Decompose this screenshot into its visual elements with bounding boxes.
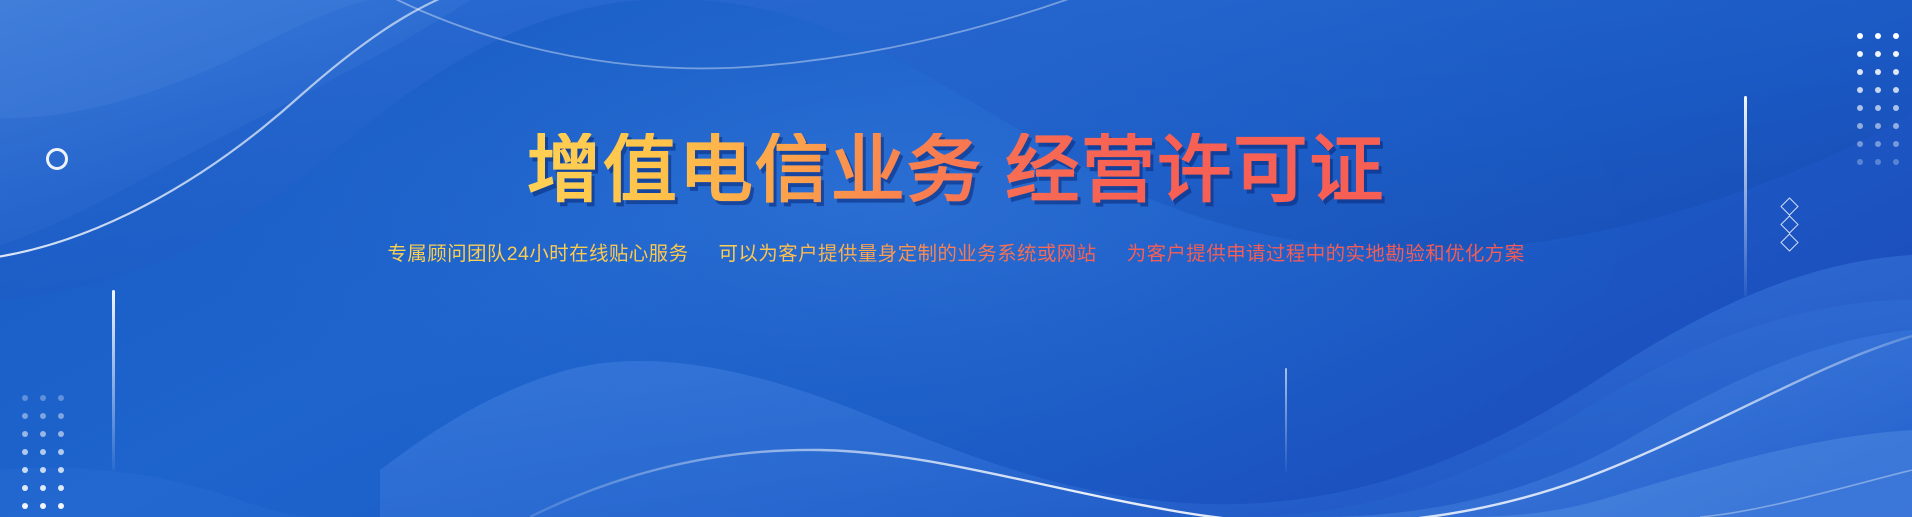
subtitle-segment-1: 专属顾问团队24小时在线贴心服务 xyxy=(387,237,688,266)
banner-title: 增值电信业务 经营许可证 xyxy=(527,133,1386,207)
subtitle-segment-3: 为客户提供申请过程中的实地勘验和优化方案 xyxy=(1127,237,1525,266)
banner-content: 增值电信业务 经营许可证 专属顾问团队24小时在线贴心服务 可以为客户提供量身定… xyxy=(0,0,1912,517)
subtitle-segment-2: 可以为客户提供量身定制的业务系统或网站 xyxy=(718,237,1096,266)
promo-banner: 增值电信业务 经营许可证 专属顾问团队24小时在线贴心服务 可以为客户提供量身定… xyxy=(0,0,1912,517)
banner-subtitle: 专属顾问团队24小时在线贴心服务 可以为客户提供量身定制的业务系统或网站 为客户… xyxy=(387,237,1524,266)
